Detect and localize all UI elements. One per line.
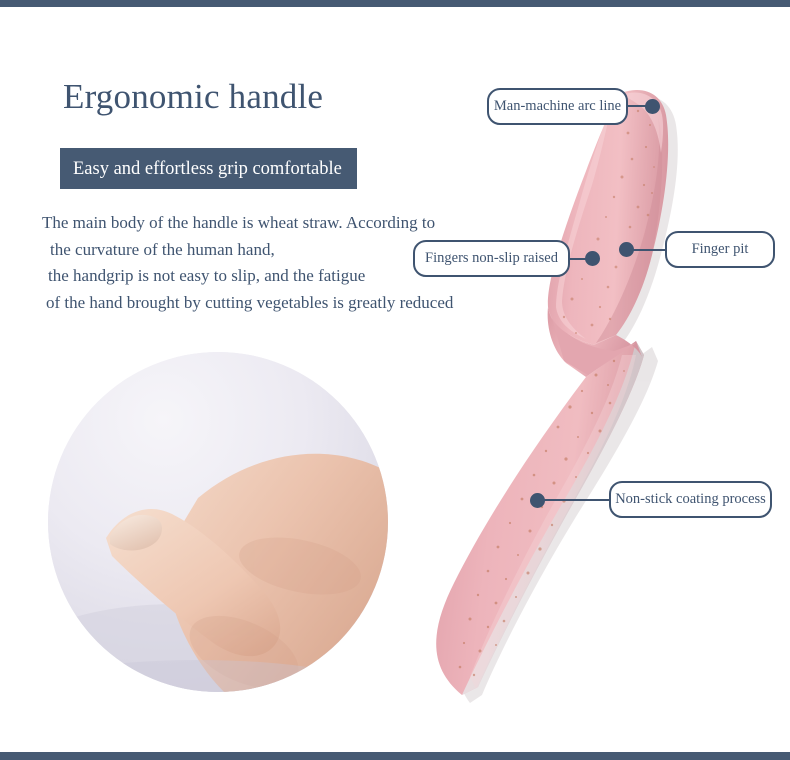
- body-line-4: of the hand brought by cutting vegetable…: [42, 290, 522, 317]
- callout-fingers-non-slip-raised[interactable]: Fingers non-slip raised: [413, 240, 570, 277]
- callout-connector-non-stick-coating-process: [540, 499, 611, 501]
- callout-finger-pit[interactable]: Finger pit: [665, 231, 775, 268]
- callout-man-machine-arc-line[interactable]: Man-machine arc line: [487, 88, 628, 125]
- callout-dot-finger-pit: [619, 242, 634, 257]
- callout-dot-non-stick-coating-process: [530, 493, 545, 508]
- bottom-divider-bar: [0, 752, 790, 760]
- subtitle-badge-label: Easy and effortless grip comfortable: [73, 158, 342, 180]
- callout-dot-man-machine-arc-line: [645, 99, 660, 114]
- subtitle-badge: Easy and effortless grip comfortable: [60, 148, 357, 189]
- callout-non-stick-coating-process[interactable]: Non-stick coating process: [609, 481, 772, 518]
- hand-grip-photo: [48, 352, 388, 692]
- body-line-1: The main body of the handle is wheat str…: [42, 210, 522, 237]
- top-divider-bar: [0, 0, 790, 7]
- knife-product-image: [400, 55, 730, 715]
- callout-dot-fingers-non-slip-raised: [585, 251, 600, 266]
- infographic-page: Ergonomic handle Easy and effortless gri…: [0, 0, 790, 760]
- page-title: Ergonomic handle: [63, 75, 323, 119]
